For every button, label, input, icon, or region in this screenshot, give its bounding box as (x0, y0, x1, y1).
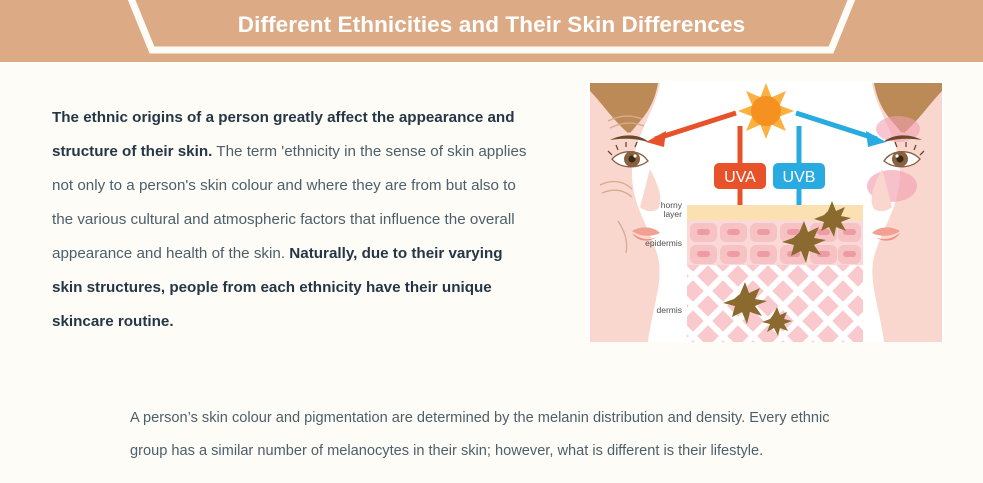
dermis-band (687, 265, 863, 342)
page-title: Different Ethnicities and Their Skin Dif… (0, 0, 983, 50)
uvb-badge-label: UVB (783, 169, 816, 186)
epidermis-label: epidermis (645, 238, 682, 248)
header-banner: Different Ethnicities and Their Skin Dif… (0, 0, 983, 62)
uva-badge-label: UVA (724, 169, 756, 186)
horny-layer-label-line2: layer (664, 209, 683, 219)
sun-icon (738, 83, 794, 139)
diagram-svg: horny layer epidermis dermis UVA UVB (588, 81, 944, 342)
uva-badge[interactable]: UVA (714, 163, 766, 189)
uva-uvb-skin-diagram: horny layer epidermis dermis UVA UVB (588, 81, 944, 342)
melanin-paragraph: A person’s skin colour and pigmentation … (130, 402, 870, 468)
dermis-label: dermis (656, 305, 682, 315)
intro-paragraph: The ethnic origins of a person greatly a… (52, 101, 532, 339)
uvb-badge[interactable]: UVB (773, 163, 825, 189)
